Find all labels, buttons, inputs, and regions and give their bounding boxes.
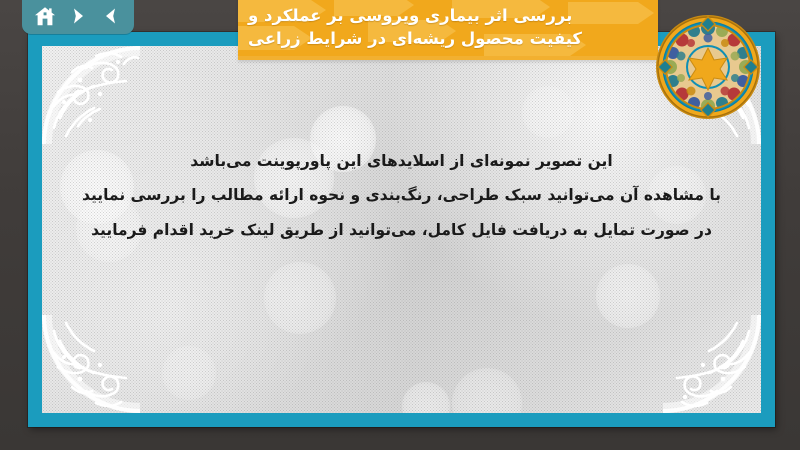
- bokeh-circle: [522, 86, 574, 138]
- body-line-2: با مشاهده آن می‌توانید سبک طراحی، رنگ‌بن…: [76, 184, 727, 207]
- bokeh-circle: [596, 264, 660, 328]
- slide-title-line-1: بررسی اثر بیماری ویروسی بر عملکرد و: [248, 4, 572, 27]
- triangle-right-icon: [68, 6, 88, 26]
- slide-viewer: این تصویر نمونه‌ای از اسلایدهای این پاور…: [0, 0, 800, 450]
- bokeh-circle: [162, 346, 216, 400]
- back-button[interactable]: [97, 3, 125, 29]
- slide-title-line-2: کیفیت محصول ریشه‌ای در شرایط زراعی: [248, 27, 582, 50]
- slide-title-banner: بررسی اثر بیماری ویروسی بر عملکرد و کیفی…: [238, 0, 658, 60]
- body-line-1: این تصویر نمونه‌ای از اسلایدهای این پاور…: [76, 150, 727, 173]
- navigation-bar: [22, 0, 134, 34]
- home-button[interactable]: [31, 3, 59, 29]
- body-line-3: در صورت تمایل به دریافت فایل کامل، می‌تو…: [76, 219, 727, 242]
- forward-button[interactable]: [64, 3, 92, 29]
- bokeh-circle: [402, 382, 450, 413]
- house-icon: [34, 6, 56, 27]
- bokeh-circle: [452, 368, 522, 413]
- slide-title: بررسی اثر بیماری ویروسی بر عملکرد و کیفی…: [238, 0, 658, 60]
- slide-body-text: این تصویر نمونه‌ای از اسلایدهای این پاور…: [42, 150, 761, 253]
- bokeh-circle: [264, 262, 336, 334]
- slide-frame: این تصویر نمونه‌ای از اسلایدهای این پاور…: [28, 32, 775, 427]
- slide-canvas: این تصویر نمونه‌ای از اسلایدهای این پاور…: [42, 46, 761, 413]
- triangle-left-icon: [101, 6, 121, 26]
